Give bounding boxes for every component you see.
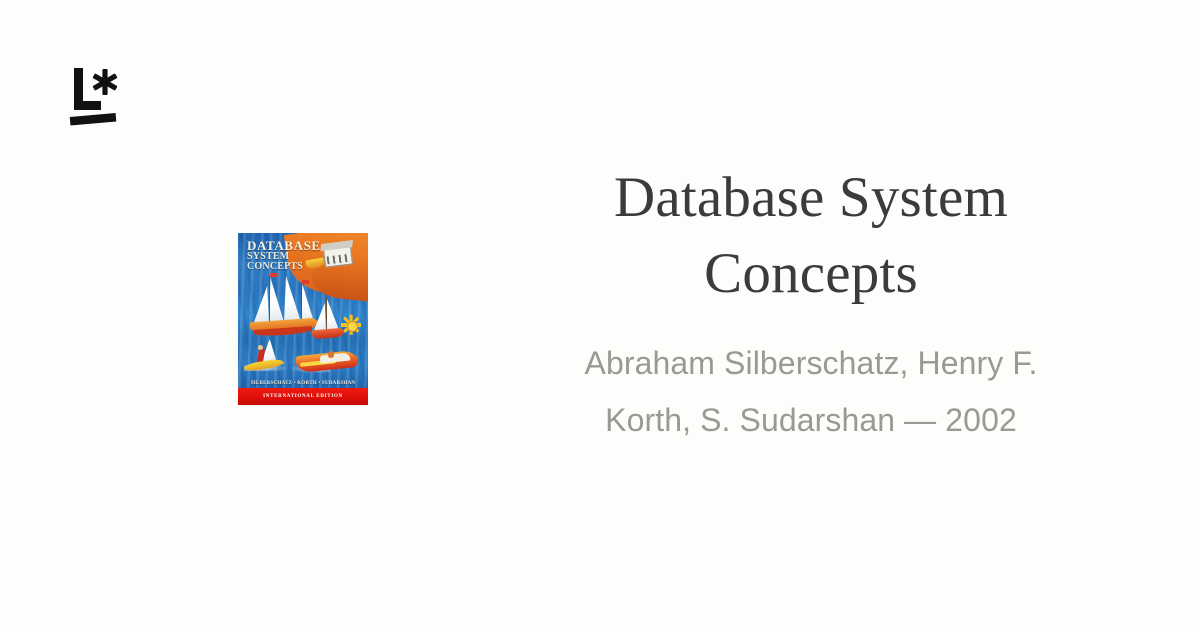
- cover-edition-label: INTERNATIONAL EDITION: [263, 394, 343, 399]
- book-title-line-2: Concepts: [704, 242, 918, 305]
- site-logo[interactable]: [68, 62, 128, 128]
- book-subtitle-line-1: Abraham Silberschatz, Henry F.: [585, 345, 1038, 381]
- speedboat-illustration: [296, 337, 362, 373]
- sloop-illustration: [310, 295, 350, 341]
- book-title-line-1: Database System: [614, 166, 1008, 229]
- book-subtitle: Abraham Silberschatz, Henry F. Korth, S.…: [496, 335, 1126, 449]
- cover-title: DATABASE SYSTEM CONCEPTS: [247, 239, 347, 273]
- book-cover-artwork: DATABASE SYSTEM CONCEPTS SILBERSCHATZ • …: [238, 233, 368, 405]
- cover-authors-line: SILBERSCHATZ • KORTH • SUDARSHAN: [238, 381, 368, 386]
- cover-title-line-2: SYSTEM CONCEPTS: [247, 252, 347, 272]
- windsurfer-illustration: [244, 337, 292, 371]
- l-star-logo-icon: [68, 62, 128, 128]
- book-info-block: Database System Concepts Abraham Silbers…: [496, 160, 1126, 449]
- book-subtitle-line-2: Korth, S. Sudarshan — 2002: [605, 402, 1017, 438]
- cover-edition-band: INTERNATIONAL EDITION: [238, 388, 368, 405]
- book-cover-thumbnail[interactable]: DATABASE SYSTEM CONCEPTS SILBERSCHATZ • …: [238, 233, 368, 405]
- book-title: Database System Concepts: [496, 160, 1126, 313]
